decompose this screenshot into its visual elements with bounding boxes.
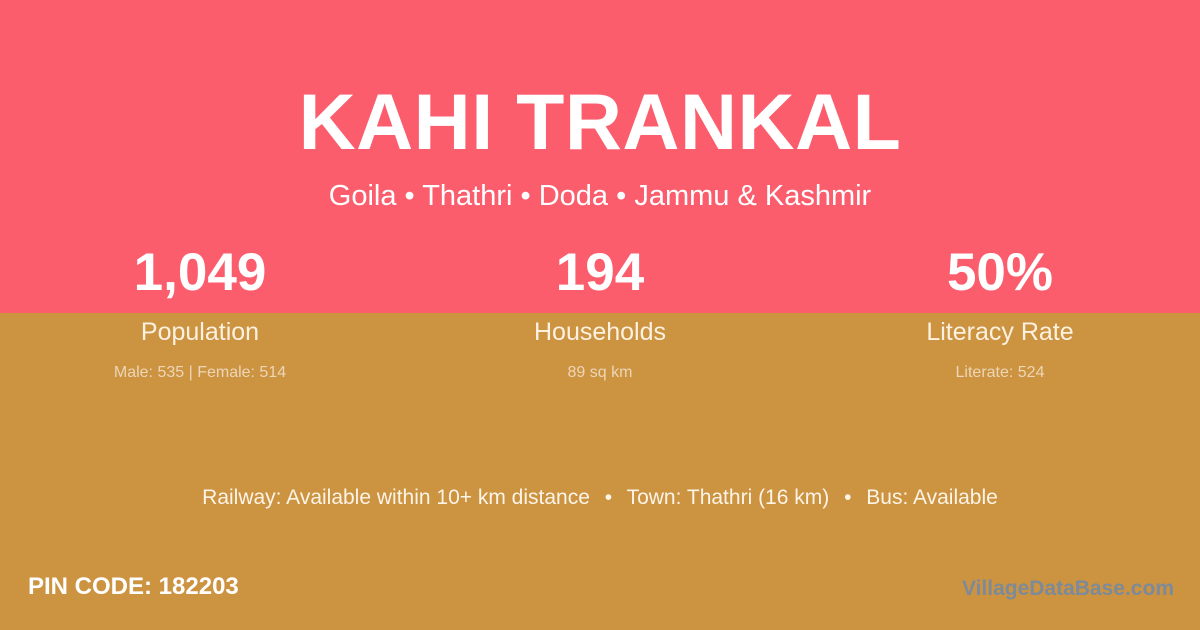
stat-subtext: 89 sq km	[400, 345, 800, 381]
footer: PIN CODE: 182203 VillageDataBase.com	[0, 575, 1200, 615]
pin-code: PIN CODE: 182203	[28, 575, 239, 599]
stat-label: Households	[400, 299, 800, 345]
village-info-card: KAHI TRANKAL Goila • Thathri • Doda • Ja…	[0, 0, 1200, 630]
stat-households: 194 Households 89 sq km	[400, 246, 800, 381]
amenity-separator: •	[835, 486, 860, 509]
title-block: KAHI TRANKAL Goila • Thathri • Doda • Ja…	[0, 82, 1200, 211]
page-title: KAHI TRANKAL	[0, 82, 1200, 161]
stats-row: 1,049 Population Male: 535 | Female: 514…	[0, 246, 1200, 381]
amenity-bus: Bus: Available	[866, 486, 998, 509]
stat-label: Literacy Rate	[800, 299, 1200, 345]
stat-value: 50%	[800, 246, 1200, 299]
stat-label: Population	[0, 299, 400, 345]
amenity-town: Town: Thathri (16 km)	[627, 486, 830, 509]
amenity-railway: Railway: Available within 10+ km distanc…	[202, 486, 590, 509]
amenities-line: Railway: Available within 10+ km distanc…	[0, 487, 1200, 508]
brand-wordmark: VillageDataBase.com	[962, 578, 1174, 599]
stat-subtext: Literate: 524	[800, 345, 1200, 381]
stat-literacy-rate: 50% Literacy Rate Literate: 524	[800, 246, 1200, 381]
amenity-separator: •	[596, 486, 621, 509]
location-breadcrumb: Goila • Thathri • Doda • Jammu & Kashmir	[0, 161, 1200, 211]
stat-value: 194	[400, 246, 800, 299]
stat-population: 1,049 Population Male: 535 | Female: 514	[0, 246, 400, 381]
stat-subtext: Male: 535 | Female: 514	[0, 345, 400, 381]
stat-value: 1,049	[0, 246, 400, 299]
